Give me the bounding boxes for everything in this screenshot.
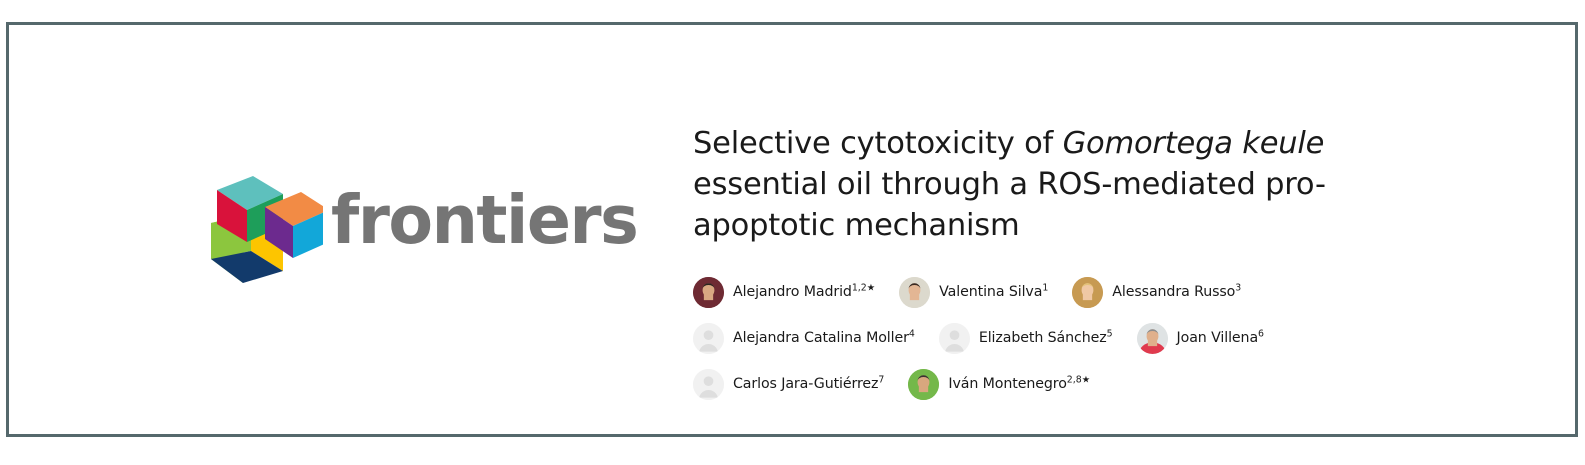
- author-affiliation-marker: 7: [878, 374, 884, 385]
- author-photo: [899, 277, 930, 308]
- avatar-placeholder-elizabeth-sanchez: [939, 323, 970, 354]
- person-silhouette-icon: [939, 323, 970, 354]
- author-row: Alejandro Madrid1,2★Valentina Silva1Ales…: [693, 269, 1313, 315]
- author-name: Joan Villena6: [1177, 330, 1264, 346]
- author-name: Valentina Silva1: [939, 284, 1048, 300]
- frontiers-logo[interactable]: frontiers: [205, 153, 605, 288]
- title-species-name: Gomortega keule: [1063, 126, 1325, 161]
- author-name: Alejandra Catalina Moller4: [733, 330, 915, 346]
- person-silhouette-icon: [693, 369, 724, 400]
- author-affiliation-marker: 6: [1258, 328, 1264, 339]
- frontiers-wordmark: frontiers: [331, 187, 637, 254]
- author-item[interactable]: Alessandra Russo3: [1072, 277, 1241, 308]
- author-item[interactable]: Carlos Jara-Gutiérrez7: [693, 369, 884, 400]
- author-affiliation-marker: 1: [1042, 282, 1048, 293]
- author-item[interactable]: Joan Villena6: [1137, 323, 1264, 354]
- author-affiliation-marker: 4: [909, 328, 915, 339]
- author-photo: [1072, 277, 1103, 308]
- article-header-card: frontiers Selective cytotoxicity of Gomo…: [6, 22, 1578, 437]
- author-name: Iván Montenegro2,8★: [948, 376, 1090, 392]
- author-photo: [1137, 323, 1168, 354]
- person-silhouette-icon: [693, 323, 724, 354]
- author-name: Alessandra Russo3: [1112, 284, 1241, 300]
- avatar-placeholder-carlos-jara-gutierrez: [693, 369, 724, 400]
- author-item[interactable]: Iván Montenegro2,8★: [908, 369, 1090, 400]
- avatar-joan-villena: [1137, 323, 1168, 354]
- author-row: Alejandra Catalina Moller4Elizabeth Sánc…: [693, 315, 1313, 361]
- frontiers-cubes-logo-icon: [205, 159, 323, 283]
- avatar-ivan-montenegro: [908, 369, 939, 400]
- author-item[interactable]: Valentina Silva1: [899, 277, 1048, 308]
- author-item[interactable]: Alejandro Madrid1,2★: [693, 277, 875, 308]
- article-title: Selective cytotoxicity of Gomortega keul…: [693, 123, 1333, 246]
- author-affiliation-marker: 2,8★: [1067, 374, 1090, 385]
- avatar-valentina-silva: [899, 277, 930, 308]
- author-photo: [908, 369, 939, 400]
- title-part-1: Selective cytotoxicity of: [693, 126, 1063, 161]
- author-name: Elizabeth Sánchez5: [979, 330, 1113, 346]
- author-item[interactable]: Elizabeth Sánchez5: [939, 323, 1113, 354]
- title-part-2: essential oil through a ROS-mediated pro…: [693, 167, 1326, 243]
- author-name: Alejandro Madrid1,2★: [733, 284, 875, 300]
- author-affiliation-marker: 1,2★: [852, 282, 875, 293]
- author-affiliation-marker: 5: [1107, 328, 1113, 339]
- avatar-alessandra-russo: [1072, 277, 1103, 308]
- author-item[interactable]: Alejandra Catalina Moller4: [693, 323, 915, 354]
- author-row: Carlos Jara-Gutiérrez7Iván Montenegro2,8…: [693, 361, 1313, 407]
- author-name: Carlos Jara-Gutiérrez7: [733, 376, 884, 392]
- avatar-placeholder-alejandra-catalina-moller: [693, 323, 724, 354]
- author-affiliation-marker: 3: [1235, 282, 1241, 293]
- avatar-alejandro-madrid: [693, 277, 724, 308]
- author-list: Alejandro Madrid1,2★Valentina Silva1Ales…: [693, 269, 1313, 407]
- author-photo: [693, 277, 724, 308]
- card-content: frontiers Selective cytotoxicity of Gomo…: [9, 25, 1575, 434]
